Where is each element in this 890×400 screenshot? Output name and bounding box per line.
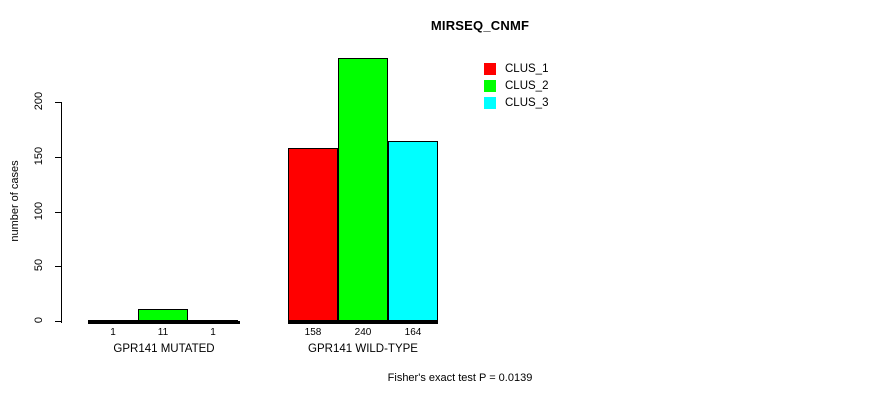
group-axis-label: GPR141 MUTATED bbox=[54, 343, 274, 355]
y-axis-tick-mark bbox=[55, 266, 62, 267]
y-axis-tick-mark bbox=[55, 212, 62, 213]
y-axis-tick-mark bbox=[55, 157, 62, 158]
y-axis-title: number of cases bbox=[9, 141, 21, 261]
bar-clus_3-wild-type bbox=[388, 141, 438, 321]
bar-clus_2-mutated bbox=[138, 309, 188, 321]
y-axis-tick-label: 200 bbox=[33, 88, 45, 114]
legend: CLUS_1CLUS_2CLUS_3 bbox=[484, 61, 548, 112]
legend-color-swatch-icon bbox=[484, 97, 496, 109]
group-axis-label: GPR141 WILD-TYPE bbox=[253, 343, 473, 355]
bar-value-label: 164 bbox=[388, 327, 438, 338]
y-axis-tick-label: 150 bbox=[33, 143, 45, 169]
bar-clus_3-mutated bbox=[188, 320, 238, 322]
chart-title: MIRSEQ_CNMF bbox=[0, 18, 890, 33]
legend-item-label: CLUS_2 bbox=[505, 80, 548, 92]
legend-color-swatch-icon bbox=[484, 80, 496, 92]
legend-item-label: CLUS_3 bbox=[505, 97, 548, 109]
statistical-annotation-text: Fisher's exact test P = 0.0139 bbox=[388, 372, 533, 384]
legend-item: CLUS_1 bbox=[484, 61, 548, 76]
bar-value-label: 1 bbox=[188, 327, 238, 338]
bar-value-label: 1 bbox=[88, 327, 138, 338]
y-axis-line bbox=[61, 102, 62, 323]
legend-color-swatch-icon bbox=[484, 63, 496, 75]
statistical-annotation: Fisher's exact test P = 0.0139 bbox=[0, 372, 890, 384]
y-axis-tick-label: 50 bbox=[33, 252, 45, 278]
y-axis-tick-mark bbox=[55, 321, 62, 322]
bar-clus_2-wild-type bbox=[338, 58, 388, 321]
y-axis-tick-mark bbox=[55, 102, 62, 103]
bar-clus_1-wild-type bbox=[288, 148, 338, 321]
bar-clus_1-mutated bbox=[88, 320, 138, 322]
y-axis-tick-label: 100 bbox=[33, 198, 45, 224]
y-axis-tick-label: 0 bbox=[33, 307, 45, 333]
bar-value-label: 158 bbox=[288, 327, 338, 338]
bar-value-label: 240 bbox=[338, 327, 388, 338]
legend-item: CLUS_3 bbox=[484, 95, 548, 110]
bar-chart-figure: MIRSEQ_CNMF 050100150200 number of cases… bbox=[0, 0, 890, 400]
chart-title-text: MIRSEQ_CNMF bbox=[431, 18, 529, 33]
bar-value-label: 11 bbox=[138, 327, 188, 338]
legend-item: CLUS_2 bbox=[484, 78, 548, 93]
legend-item-label: CLUS_1 bbox=[505, 63, 548, 75]
group-baseline bbox=[288, 321, 438, 324]
